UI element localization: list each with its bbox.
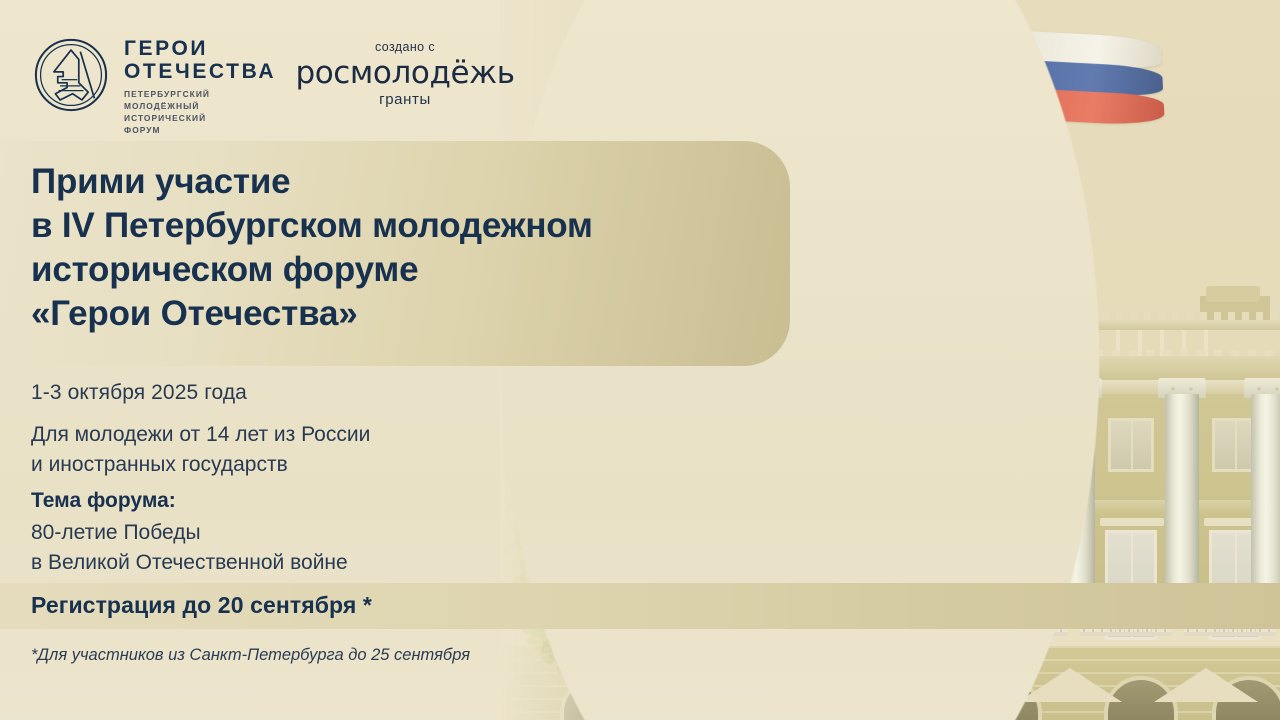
window-hood: [996, 518, 1060, 526]
audience-line-2: и иностранных государств: [31, 450, 370, 480]
door-pediment: [1018, 668, 1122, 702]
flag-pole-finial: [995, 8, 1006, 28]
logo-subtitle-line4: ФОРУМ: [124, 125, 276, 137]
headline-line-2: в IV Петербургском молодежном: [31, 204, 771, 248]
theme-line-1: 80-летие Победы: [31, 518, 348, 548]
upper-window: [900, 418, 946, 472]
logo-subtitle-line3: ИСТОРИЧЕСКИЙ: [124, 113, 276, 125]
partner-name: росмолодёжь: [290, 57, 520, 90]
logo-subtitle-line1: ПЕТЕРБУРГСКИЙ: [124, 89, 276, 101]
lamppost-knob: [604, 512, 627, 528]
partner-program-label: гранты: [290, 91, 520, 108]
registration-deadline: Регистрация до 20 сентября *: [31, 592, 372, 619]
page-title: Прими участие в IV Петербургском молодеж…: [31, 160, 771, 336]
street-lamppost: [612, 430, 619, 720]
logo-title-line1: ГЕРОИ: [124, 38, 276, 61]
upper-window: [1004, 418, 1050, 472]
door-pediment: [746, 668, 850, 702]
door-pediment: [1154, 668, 1258, 702]
green-tree: [500, 330, 760, 720]
partner-created-with-label: создано с: [290, 40, 520, 54]
chimney-right: [1206, 286, 1260, 302]
window-hood: [892, 518, 956, 526]
poster: ГЕРОИ ОТЕЧЕСТВА ПЕТЕРБУРГСКИЙ МОЛОДЁЖНЫЙ…: [0, 0, 1280, 720]
soldier-profile-circle-emblem: [32, 36, 110, 114]
logo-title-line2: ОТЕЧЕСТВА: [124, 61, 276, 84]
rosmolodezh-grants-logo[interactable]: создано с росмолодёжь гранты: [290, 40, 520, 108]
logo-subtitle-line2: МОЛОДЁЖНЫЙ: [124, 101, 276, 113]
lamppost-arm: [600, 488, 631, 499]
forum-logo[interactable]: ГЕРОИ ОТЕЧЕСТВА ПЕТЕРБУРГСКИЙ МОЛОДЁЖНЫЙ…: [32, 30, 276, 137]
russian-tricolor-flag: [1003, 30, 1163, 122]
headline-line-4: «Герои Отечества»: [31, 292, 771, 336]
event-dates: 1-3 октября 2025 года: [31, 381, 247, 405]
audience-description: Для молодежи от 14 лет из России и иност…: [31, 420, 370, 480]
registration-footnote: *Для участников из Санкт-Петербурга до 2…: [31, 646, 470, 665]
audience-line-1: Для молодежи от 14 лет из России: [31, 420, 370, 450]
window-hood: [1100, 518, 1164, 526]
window-hood: [788, 518, 852, 526]
upper-window: [796, 418, 842, 472]
headline-line-1: Прими участие: [31, 160, 771, 204]
headline-line-3: историческом форуме: [31, 248, 771, 292]
theme-text: 80-летие Победы в Великой Отечественной …: [31, 518, 348, 578]
door-pediment: [882, 668, 986, 702]
upper-window: [1108, 418, 1154, 472]
theme-label: Тема форума:: [31, 489, 176, 513]
theme-line-2: в Великой Отечественной войне: [31, 548, 348, 578]
